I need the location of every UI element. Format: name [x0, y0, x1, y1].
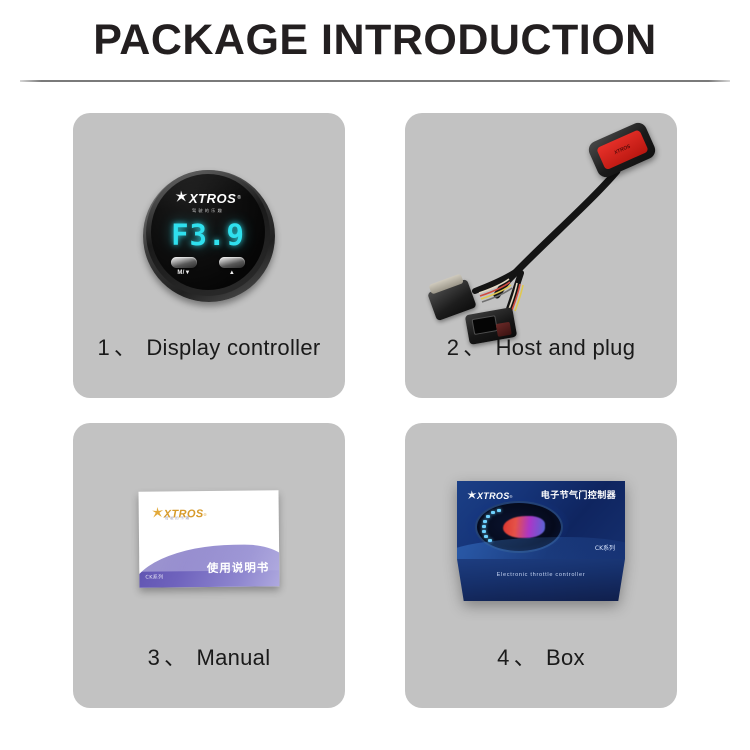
up-button-key[interactable] [219, 257, 245, 268]
package-item-display-controller[interactable]: XTROS ® 驾驶的乐趣 F3.9 M/▼ ▲ [73, 113, 345, 398]
display-controller-label: Display controller [146, 335, 320, 360]
manual-title-chinese: 使用说明书 [207, 559, 270, 576]
plug-connector-male-slot [472, 315, 498, 335]
controller-up-button[interactable]: ▲ [219, 257, 245, 276]
manual-caption: 3、Manual [148, 640, 271, 708]
registered-trademark-icon: ® [204, 512, 207, 517]
page-header: PACKAGE INTRODUCTION [0, 0, 750, 80]
manual-brand-subtext: 驾驶的乐趣 [165, 516, 191, 521]
manual-image: XTROS ® 驾驶的乐趣 使用说明书 CK系列 [73, 423, 345, 640]
box-image: XTROS ® 电子节气门控制器 CK系列 Electronic throttl… [405, 423, 677, 640]
retail-box: XTROS ® 电子节气门控制器 CK系列 Electronic throttl… [457, 481, 625, 601]
controller-button-row: M/▼ ▲ [151, 257, 265, 276]
mode-button-label: M/▼ [171, 270, 197, 276]
controller-brand-text: XTROS [189, 192, 236, 205]
controller-mode-button[interactable]: M/▼ [171, 257, 197, 276]
package-item-manual[interactable]: XTROS ® 驾驶的乐趣 使用说明书 CK系列 3、Manual [73, 423, 345, 708]
box-number: 4 [497, 645, 510, 670]
box-caption: 4、Box [497, 640, 585, 708]
box-top-face: XTROS ® 电子节气门控制器 CK系列 [457, 481, 625, 559]
host-and-plug-image: XTROS [405, 113, 677, 330]
controller-brand-row: XTROS ® [175, 190, 241, 207]
box-separator: 、 [514, 645, 536, 670]
star-icon [467, 487, 477, 505]
registered-trademark-icon: ® [237, 196, 241, 201]
display-controller-caption: 1、Display controller [98, 330, 321, 398]
manual-separator: 、 [164, 645, 186, 670]
controller-led-display: F3.9 [151, 218, 265, 252]
star-icon [175, 190, 188, 207]
controller-brand-subtext: 驾驶的乐趣 [151, 209, 265, 213]
display-controller-number: 1 [98, 335, 111, 360]
controller-brand-logo: XTROS ® 驾驶的乐趣 [151, 190, 265, 213]
page-title: PACKAGE INTRODUCTION [93, 16, 656, 65]
box-front-face: Electronic throttle controller [457, 559, 625, 601]
box-brand-text: XTROS [477, 491, 510, 501]
package-item-box[interactable]: XTROS ® 电子节气门控制器 CK系列 Electronic throttl… [405, 423, 677, 708]
host-assembly: XTROS [405, 113, 677, 330]
star-icon [152, 505, 164, 523]
plug-connector-male-tab [496, 322, 512, 337]
up-button-label: ▲ [219, 270, 245, 276]
box-series-label: CK系列 [595, 543, 615, 552]
package-items-grid: XTROS ® 驾驶的乐趣 F3.9 M/▼ ▲ [73, 113, 677, 708]
display-controller-separator: 、 [114, 335, 136, 360]
mode-button-key[interactable] [171, 257, 197, 268]
controller-device: XTROS ® 驾驶的乐趣 F3.9 M/▼ ▲ [143, 170, 275, 302]
controller-face: XTROS ® 驾驶的乐趣 F3.9 M/▼ ▲ [151, 174, 265, 290]
display-controller-image: XTROS ® 驾驶的乐趣 F3.9 M/▼ ▲ [73, 113, 345, 330]
package-item-host-and-plug[interactable]: XTROS 2、Host and plug [405, 113, 677, 398]
registered-trademark-icon: ® [510, 494, 513, 499]
manual-series-label: CK系列 [145, 573, 163, 580]
manual-booklet: XTROS ® 驾驶的乐趣 使用说明书 CK系列 [139, 490, 280, 587]
box-label: Box [546, 645, 585, 670]
manual-number: 3 [148, 645, 161, 670]
box-brand-logo: XTROS ® [467, 487, 512, 505]
box-subtitle-english: Electronic throttle controller [457, 572, 625, 578]
host-module-brand: XTROS [613, 144, 631, 156]
header-divider [20, 80, 730, 82]
manual-label: Manual [196, 645, 270, 670]
box-title-chinese: 电子节气门控制器 [541, 488, 616, 501]
